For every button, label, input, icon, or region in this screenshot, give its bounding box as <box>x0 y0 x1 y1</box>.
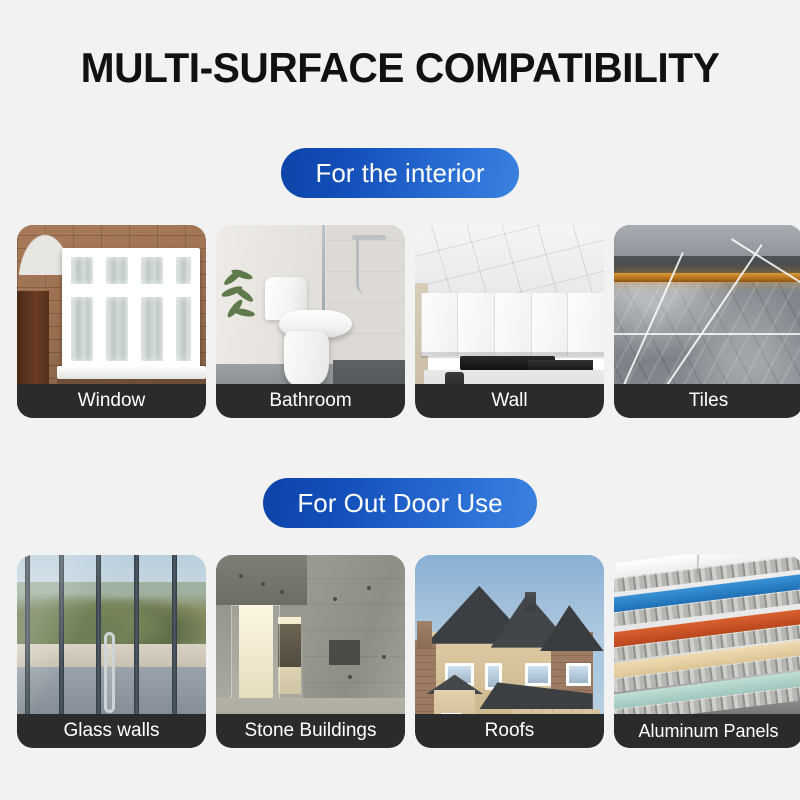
cabinet-door <box>531 293 568 357</box>
card-label-tiles: Tiles <box>614 384 800 418</box>
plant <box>220 271 258 337</box>
amber-light-strip <box>614 273 800 282</box>
glass-door <box>231 605 280 702</box>
section-interior: For the interior <box>0 148 800 200</box>
concrete-wall <box>303 555 405 709</box>
brick-accent <box>415 640 436 725</box>
window-pane <box>137 293 167 365</box>
section-outdoor: For Out Door Use Glass wall <box>0 478 800 530</box>
window-pane <box>172 253 195 288</box>
page-title: MULTI-SURFACE COMPATIBILITY <box>12 44 788 92</box>
card-roofs[interactable]: Roofs <box>415 555 604 748</box>
card-aluminum-panels[interactable]: Aluminum Panels <box>614 555 800 748</box>
card-wall[interactable]: Wall <box>415 225 604 418</box>
pill-wrap-outdoor: For Out Door Use <box>0 478 800 530</box>
infographic-page: MULTI-SURFACE COMPATIBILITY For the inte… <box>0 0 800 800</box>
card-row-interior: Window <box>17 225 783 418</box>
upper-cabinets <box>421 293 604 357</box>
card-label-roofs: Roofs <box>415 714 604 748</box>
house-window <box>566 663 591 686</box>
card-bathroom[interactable]: Bathroom <box>216 225 405 418</box>
card-label-aluminum-panels: Aluminum Panels <box>614 714 800 748</box>
cabinet-door <box>457 293 494 357</box>
card-window[interactable]: Window <box>17 225 206 418</box>
dark-wall-panel <box>329 640 359 665</box>
card-label-wall: Wall <box>415 384 604 418</box>
shower-hose <box>356 237 386 295</box>
window-frame <box>62 248 200 370</box>
inner-recess <box>278 624 301 666</box>
card-label-window: Window <box>17 384 206 418</box>
card-glass-walls[interactable]: Glass walls <box>17 555 206 748</box>
window-pane <box>137 253 167 288</box>
ceiling-tiles <box>415 225 604 293</box>
card-label-glass-walls: Glass walls <box>17 714 206 748</box>
concrete-ceiling <box>216 555 307 605</box>
window-pane <box>67 293 97 365</box>
cabinet-door <box>567 293 604 357</box>
window-pane <box>102 293 132 365</box>
grout-line <box>614 333 800 335</box>
range-hood-extension <box>528 360 592 370</box>
card-row-outdoor: Glass walls <box>17 555 783 748</box>
window-pane <box>67 253 97 288</box>
window-row-top <box>67 253 195 288</box>
pill-wrap-interior: For the interior <box>0 148 800 200</box>
toilet-body <box>284 331 329 385</box>
card-label-stone-buildings: Stone Buildings <box>216 714 405 748</box>
chimney <box>525 592 536 611</box>
window-sill <box>57 366 206 380</box>
window-pane <box>102 253 132 288</box>
house-window <box>525 663 551 686</box>
card-label-bathroom: Bathroom <box>216 384 405 418</box>
toilet <box>265 277 352 385</box>
card-tiles[interactable]: Tiles <box>614 225 800 418</box>
chimney <box>417 621 432 648</box>
cabinet-door <box>494 293 531 357</box>
card-stone-buildings[interactable]: Stone Buildings <box>216 555 405 748</box>
window-pane <box>172 293 195 365</box>
section-pill-outdoor[interactable]: For Out Door Use <box>263 478 536 528</box>
window-row-bottom <box>67 293 195 365</box>
cabinet-door <box>421 293 458 357</box>
back-wall <box>614 225 800 258</box>
section-pill-interior[interactable]: For the interior <box>281 148 518 198</box>
wicker-basket <box>216 335 248 381</box>
